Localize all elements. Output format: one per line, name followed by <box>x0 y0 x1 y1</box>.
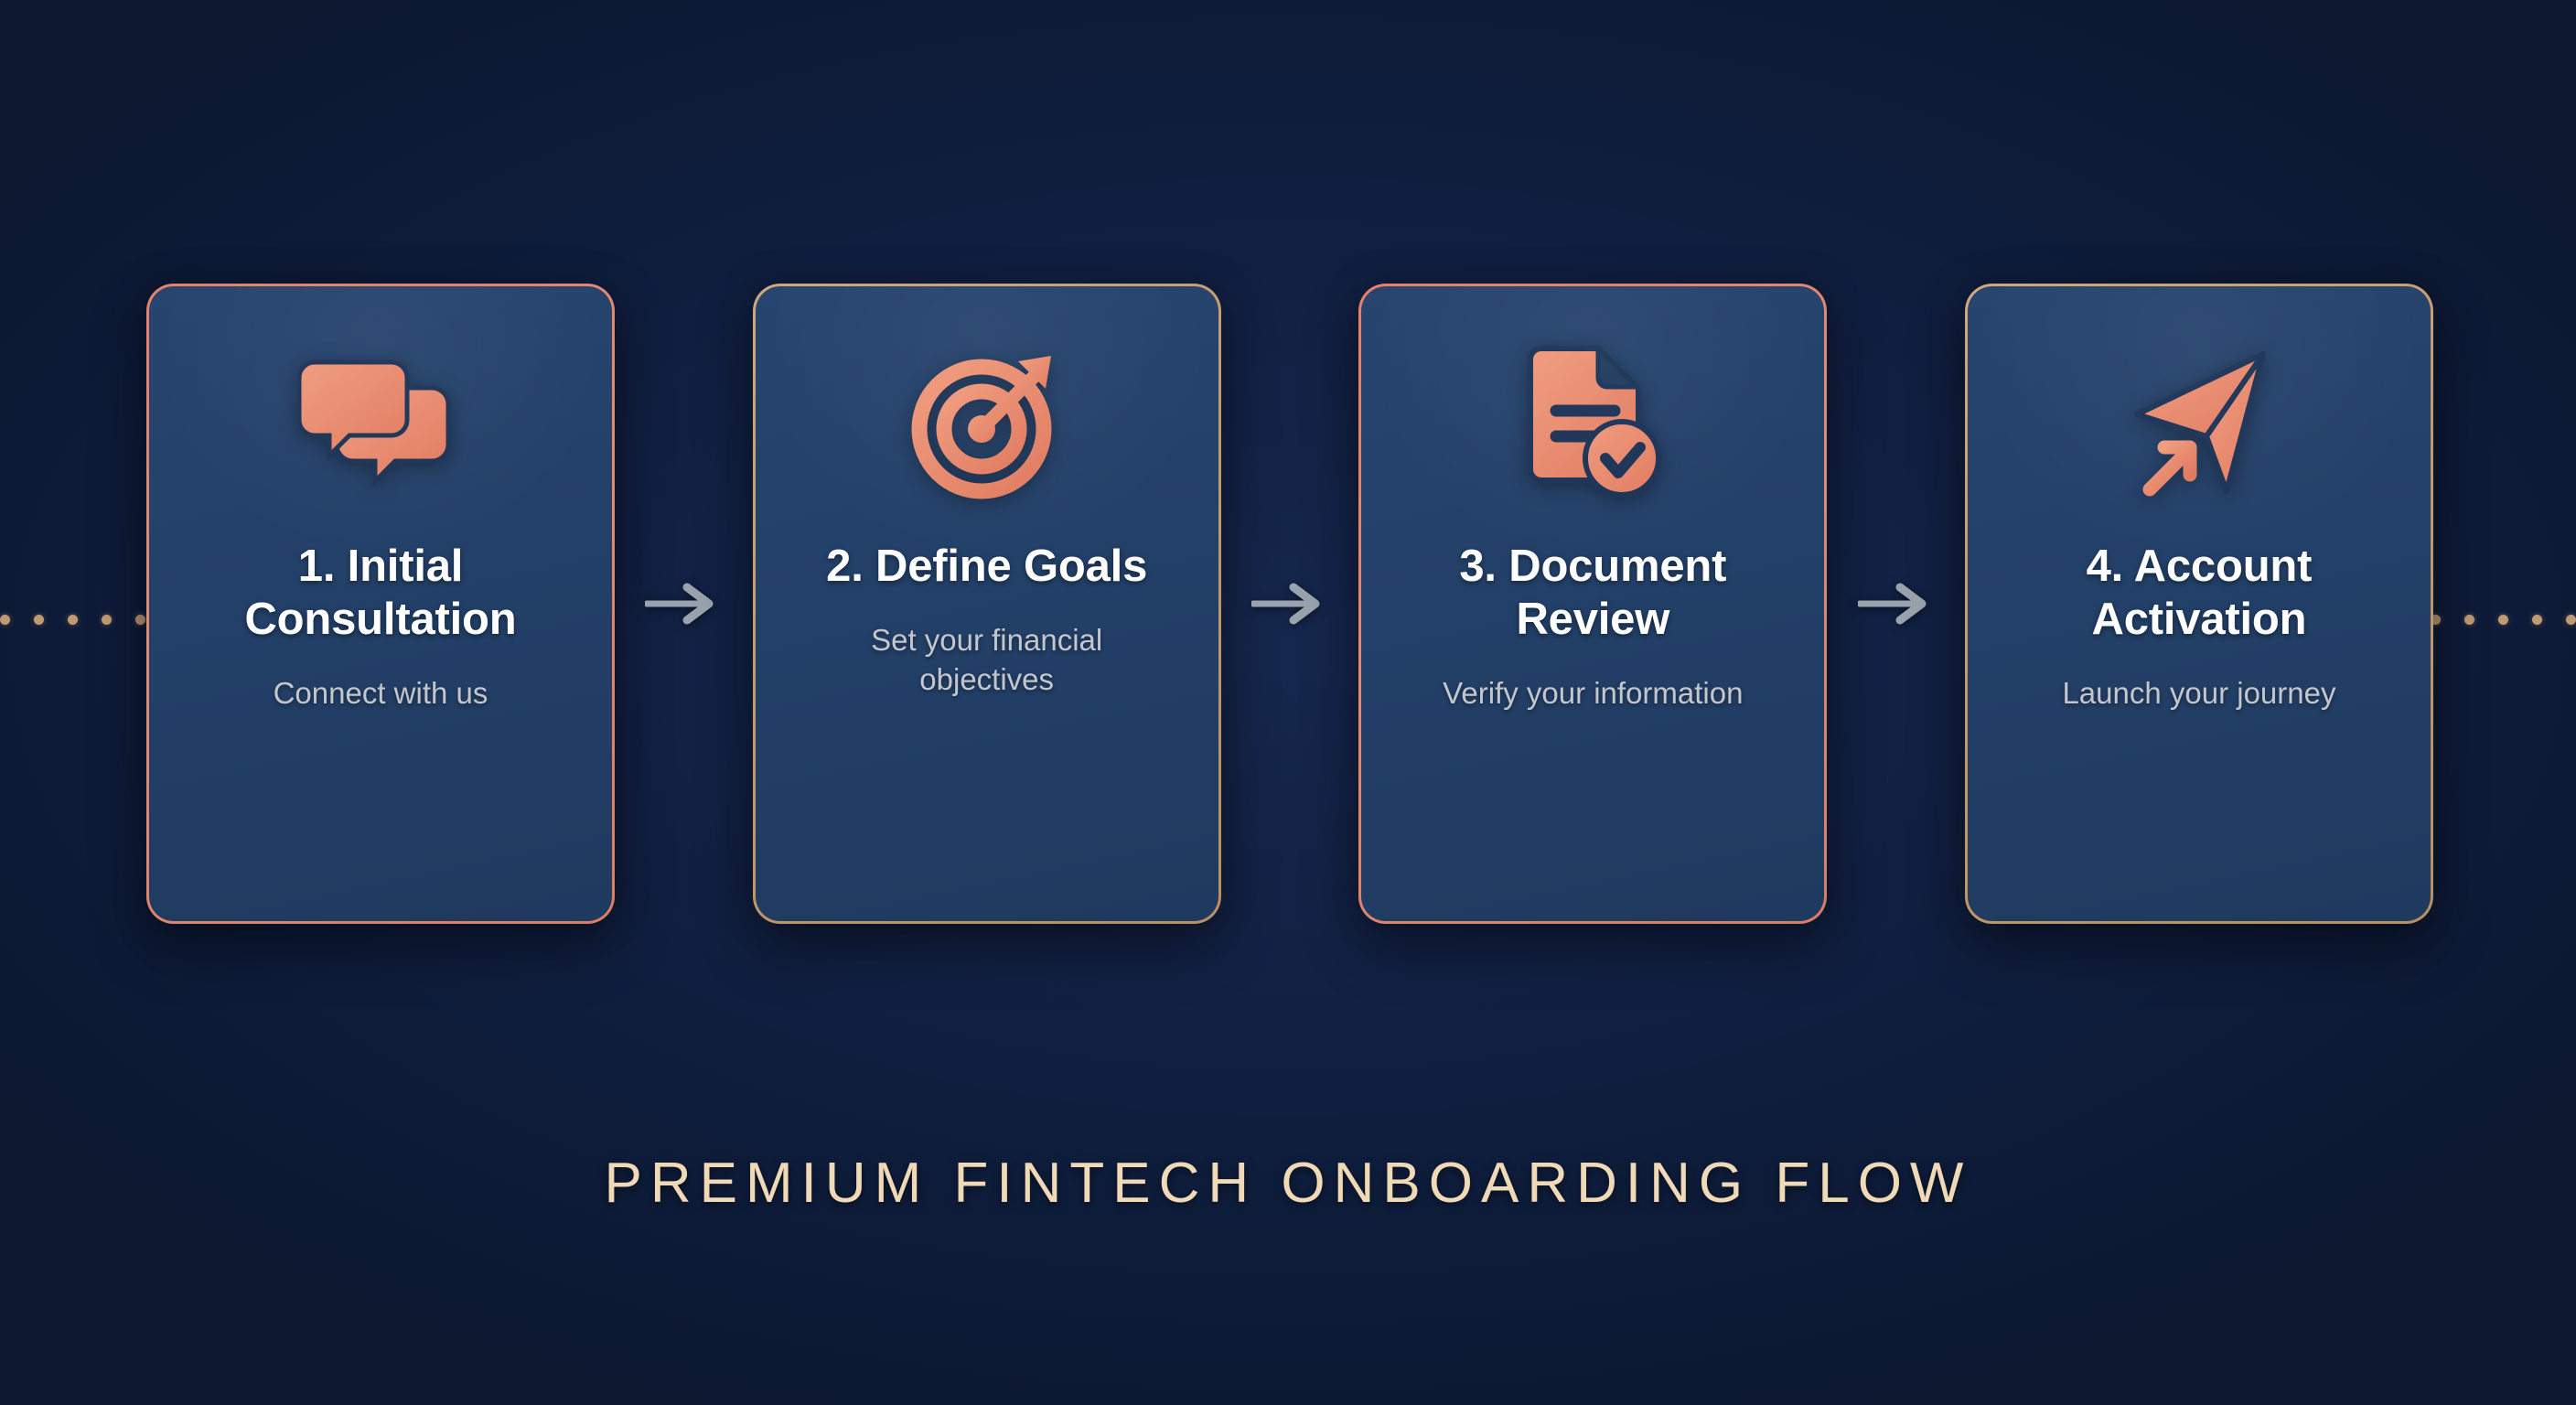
arrow-right-icon <box>1251 580 1328 627</box>
step-subtitle: Connect with us <box>274 674 488 713</box>
rail-dot <box>2566 615 2576 625</box>
step-title: 4. Account Activation <box>2007 541 2391 647</box>
connector-3 <box>1846 567 1947 640</box>
arrow-right-icon <box>1858 580 1935 627</box>
chat-bubbles-icon <box>289 338 472 509</box>
target-arrow-icon <box>896 338 1079 509</box>
infographic-caption: PREMIUM FINTECH ONBOARDING FLOW <box>0 1151 2576 1216</box>
rail-dot <box>2498 615 2508 625</box>
rail-dot <box>0 615 10 625</box>
step-title: 3. Document Review <box>1401 541 1785 647</box>
connector-2 <box>1240 567 1340 640</box>
step-card-document-review[interactable]: 3. Document Review Verify your informati… <box>1358 284 1827 924</box>
rail-dot <box>102 615 112 625</box>
step-card-define-goals[interactable]: 2. Define Goals Set your financial objec… <box>753 284 1221 924</box>
connector-1 <box>633 567 734 640</box>
onboarding-flow-infographic: 1. Initial Consultation Connect with us <box>0 0 2576 1405</box>
step-title: 1. Initial Consultation <box>188 541 573 647</box>
rail-dot <box>34 615 44 625</box>
rail-dot <box>68 615 78 625</box>
step-subtitle: Launch your journey <box>2062 674 2335 713</box>
step-card-account-activation[interactable]: 4. Account Activation Launch your journe… <box>1965 284 2433 924</box>
rail-dot <box>135 615 145 625</box>
step-card-initial-consultation[interactable]: 1. Initial Consultation Connect with us <box>146 284 615 924</box>
paper-plane-arrow-icon <box>2108 338 2291 509</box>
rail-dot <box>2464 615 2474 625</box>
document-check-icon <box>1501 338 1684 509</box>
step-subtitle: Set your financial objectives <box>804 621 1170 700</box>
arrow-right-icon <box>645 580 722 627</box>
step-subtitle: Verify your information <box>1443 674 1743 713</box>
steps-row: 1. Initial Consultation Connect with us <box>146 284 2433 924</box>
rail-dot <box>2532 615 2542 625</box>
step-title: 2. Define Goals <box>826 541 1147 594</box>
